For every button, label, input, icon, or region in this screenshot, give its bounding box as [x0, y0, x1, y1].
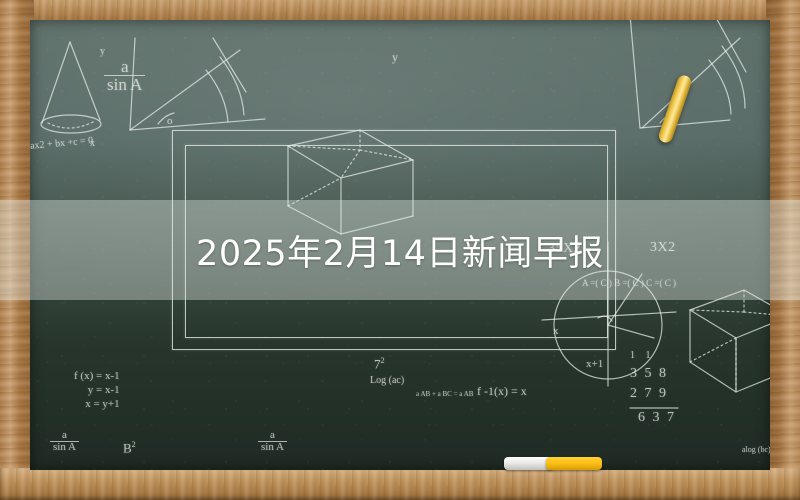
function-lines-block: f (x) = x-1 y = x-1 x = y+1: [74, 370, 120, 411]
expression-x-plus-1: x+1: [586, 358, 603, 370]
fraction-a-sinA-center: a sin A: [258, 430, 287, 453]
cube-drawing-right: [690, 290, 770, 392]
screenshot-root: a sin A y x o ax2 + bx +c = 0 y Log (ac)…: [0, 0, 800, 500]
function-line-1: f (x) = x-1: [74, 370, 120, 384]
page-title: 2025年2月14日新闻早报: [0, 200, 800, 300]
axis-label-y-top: y: [100, 46, 105, 57]
fraction-a-sinA-left: a sin A: [50, 430, 79, 453]
fraction-denominator-sinA-3: sin A: [258, 441, 287, 453]
inverse-function-formula: f -1(x) = x: [477, 384, 527, 399]
function-line-2: y = x-1: [74, 384, 120, 398]
exponent-power: 2: [381, 356, 385, 365]
formula-a-over-sinA: a sin A: [104, 58, 145, 94]
axis-label-x-top: x: [90, 138, 95, 149]
addition-carry-row: 1 1: [630, 350, 655, 361]
b-squared-power: 2: [132, 440, 136, 449]
small-vector-formula: a AB + a BC = a AB: [416, 390, 473, 398]
angle-label-o: o: [167, 115, 173, 127]
quadratic-equation: ax2 + bx +c = 0: [30, 135, 94, 151]
log-label-left: Log (ac): [370, 375, 404, 386]
axis-label-y-right: y: [392, 50, 398, 65]
frame-bottom-ledge: [0, 468, 800, 500]
addition-operand-1: 3 5 8: [630, 366, 668, 382]
fraction-numerator-a-2: a: [50, 430, 79, 441]
fraction-numerator-a: a: [104, 58, 145, 75]
addition-operand-2: 2 7 9: [630, 386, 668, 402]
fraction-numerator-a-3: a: [258, 430, 287, 441]
log-label-bc: alog (bc): [742, 445, 770, 454]
exponent-seven-squared: 72: [374, 356, 385, 372]
chalk-stick-yellow-ledge[interactable]: [546, 457, 602, 470]
fraction-denominator-sinA-2: sin A: [50, 441, 79, 453]
exponent-base: 7: [374, 356, 381, 371]
b-squared: B2: [123, 440, 136, 456]
fraction-denominator-sinA: sin A: [104, 75, 145, 93]
b-squared-base: B: [123, 440, 132, 455]
addition-sum: 6 3 7: [638, 410, 676, 426]
function-line-3: x = y+1: [74, 398, 120, 412]
angle-diagram-right: [630, 20, 746, 128]
frame-top-rail: [0, 0, 800, 22]
cone-drawing: [41, 42, 101, 133]
angle-axes-drawing: [130, 38, 265, 130]
